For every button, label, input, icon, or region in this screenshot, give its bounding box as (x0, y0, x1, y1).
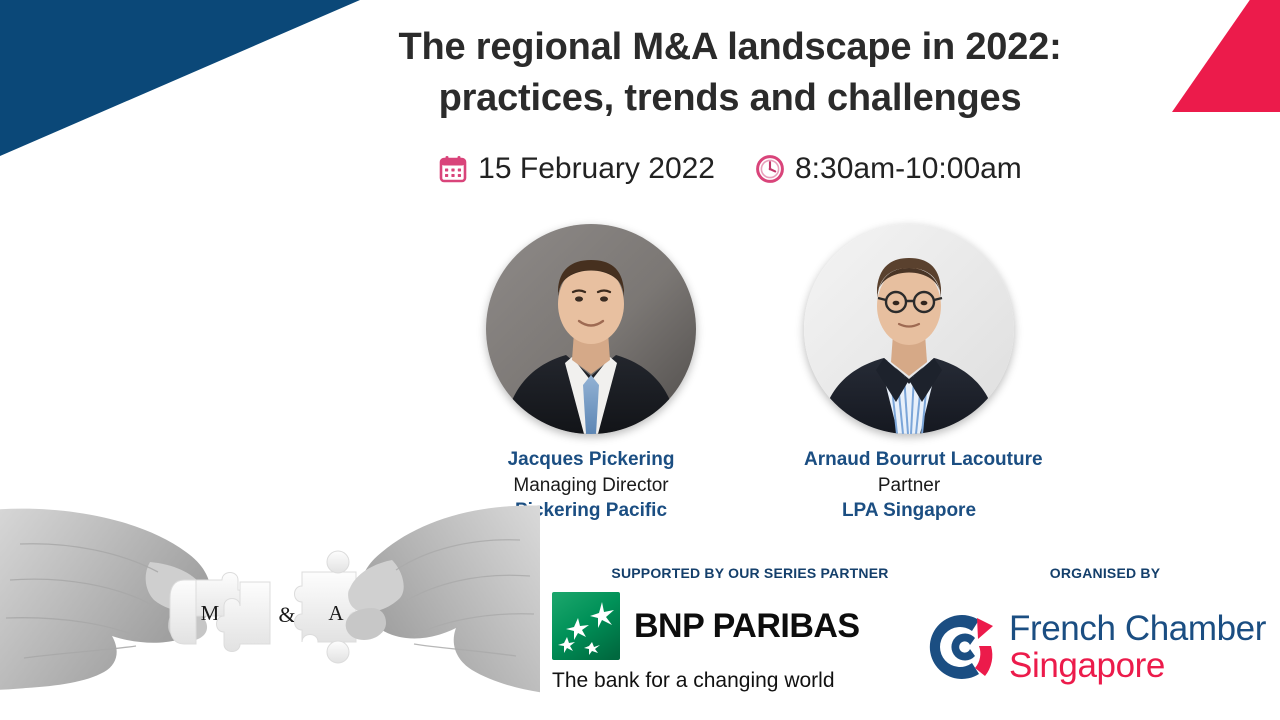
calendar-icon (438, 154, 468, 184)
event-slide: The regional M&A landscape in 2022: prac… (0, 0, 1280, 720)
bnp-tagline: The bank for a changing world (552, 669, 882, 693)
puzzle-letter-a: A (328, 601, 344, 625)
partner-label: SUPPORTED BY OUR SERIES PARTNER (560, 565, 940, 581)
speaker-role: Managing Director (486, 473, 696, 499)
event-date: 15 February 2022 (478, 152, 715, 186)
puzzle-ampersand: & (278, 602, 295, 627)
title-line-1: The regional M&A landscape in 2022: (300, 22, 1160, 73)
speaker-card: Arnaud Bourrut Lacouture Partner LPA Sin… (804, 224, 1014, 524)
bnp-wordmark: BNP PARIBAS (634, 607, 860, 646)
avatar (486, 224, 696, 434)
speaker-organisation: LPA Singapore (804, 498, 1014, 524)
avatar (804, 224, 1014, 434)
french-chamber-line-1: French Chamber (1009, 611, 1266, 646)
event-date-group: 15 February 2022 (438, 152, 715, 186)
title-line-2: practices, trends and challenges (300, 73, 1160, 124)
pink-triangle-decoration (1172, 0, 1280, 112)
hands-puzzle-image: M & A (0, 500, 540, 720)
bnp-paribas-logo: BNP PARIBAS The bank for a changing worl… (552, 592, 882, 693)
event-datetime: 15 February 2022 8:30am-10:00am (300, 152, 1160, 186)
french-chamber-wordmark: French Chamber Singapore (1009, 611, 1266, 683)
speaker-name: Arnaud Bourrut Lacouture (804, 447, 1014, 473)
french-chamber-line-2: Singapore (1009, 648, 1266, 683)
bnp-paribas-stars-logo-icon (552, 592, 620, 660)
page-title: The regional M&A landscape in 2022: prac… (300, 22, 1160, 125)
french-chamber-cc-logo-icon (915, 606, 999, 688)
clock-icon (755, 154, 785, 184)
organiser-label: ORGANISED BY (960, 565, 1250, 581)
bnp-logo-row: BNP PARIBAS (552, 592, 882, 660)
speaker-list: Jacques Pickering Managing Director Pick… (420, 224, 1080, 524)
speaker-role: Partner (804, 473, 1014, 499)
event-time: 8:30am-10:00am (795, 152, 1022, 186)
event-time-group: 8:30am-10:00am (755, 152, 1022, 186)
speaker-card: Jacques Pickering Managing Director Pick… (486, 224, 696, 524)
speaker-name: Jacques Pickering (486, 447, 696, 473)
french-chamber-logo: French Chamber Singapore (915, 606, 1266, 688)
